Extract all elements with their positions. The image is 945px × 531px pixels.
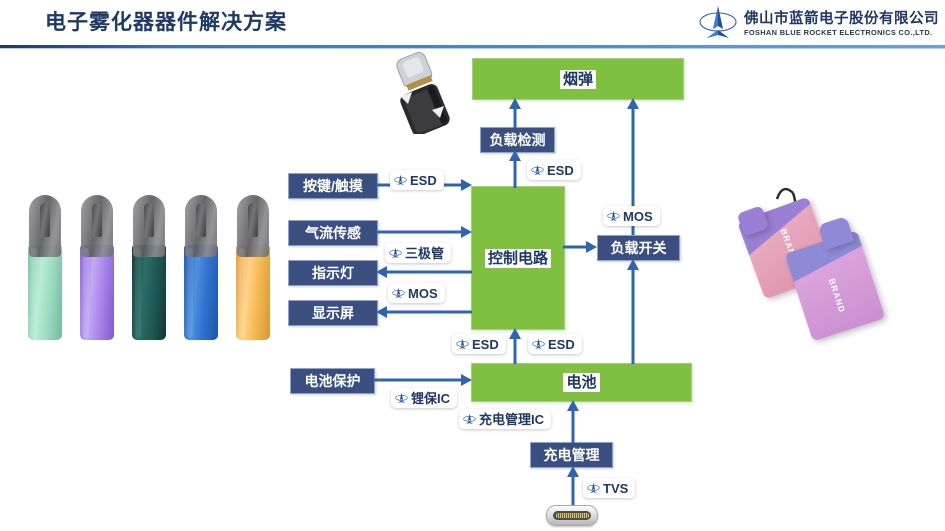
arrow-airflow-to-control bbox=[376, 225, 472, 239]
chip-esd-control-bottom[interactable]: ESD bbox=[528, 334, 582, 354]
logo-company-en: FOSHAN BLUE ROCKET ELECTRONICS CO.,LTD. bbox=[744, 29, 939, 36]
chip-tvs-usb[interactable]: TVS bbox=[583, 478, 635, 498]
arrow-control-to-indicator bbox=[376, 265, 472, 279]
block-battery[interactable]: 电池 bbox=[471, 363, 692, 402]
block-load-switch[interactable]: 负载开关 bbox=[597, 235, 680, 261]
block-pod[interactable]: 烟弹 bbox=[472, 58, 684, 100]
pod-product-photo: BRAND BRAND bbox=[735, 185, 935, 375]
chip-charge-management-ic-label: 充电管理IC bbox=[479, 413, 544, 426]
logo-company-cn: 佛山市蓝箭电子股份有限公司 bbox=[744, 12, 939, 27]
chip-esd-control-bottom-label: ESD bbox=[548, 338, 575, 351]
vape-device-lineup-image bbox=[20, 195, 270, 345]
chip-lipo-protection-ic[interactable]: 锂保IC bbox=[391, 388, 457, 408]
chip-tvs-usb-label: TVS bbox=[603, 482, 628, 495]
block-indicator-light[interactable]: 指示灯 bbox=[288, 260, 378, 286]
block-charge-management-label: 充电管理 bbox=[544, 445, 600, 465]
block-load-detect-label: 负载检测 bbox=[490, 130, 546, 150]
header-divider-thin bbox=[0, 48, 945, 49]
vape-device-4 bbox=[184, 195, 218, 340]
chip-esd-battery-label: ESD bbox=[472, 338, 499, 351]
vape-device-3 bbox=[132, 195, 166, 340]
chip-esd-battery[interactable]: ESD bbox=[452, 334, 506, 354]
chip-triode-indicator-label: 三极管 bbox=[405, 247, 444, 260]
arrow-control-to-display bbox=[376, 305, 472, 319]
block-airflow-sensor[interactable]: 气流传感 bbox=[288, 220, 378, 246]
rocket-star-icon bbox=[389, 247, 402, 260]
usb-c-port-icon bbox=[546, 505, 598, 526]
rocket-star-icon bbox=[587, 482, 600, 495]
arrow-load-detect-to-pod bbox=[508, 98, 522, 128]
block-key-touch-label: 按键/触摸 bbox=[303, 176, 363, 196]
vape-device-5 bbox=[236, 195, 270, 340]
block-display-screen[interactable]: 显示屏 bbox=[288, 300, 378, 326]
chip-esd-load-detect[interactable]: ESD bbox=[527, 160, 581, 180]
arrow-battery-to-control bbox=[508, 328, 522, 364]
chip-lipo-protection-ic-label: 锂保IC bbox=[411, 392, 450, 405]
rocket-star-icon bbox=[531, 164, 544, 177]
block-charge-management[interactable]: 充电管理 bbox=[530, 442, 613, 468]
company-logo: 佛山市蓝箭电子股份有限公司 FOSHAN BLUE ROCKET ELECTRO… bbox=[698, 4, 940, 44]
block-key-touch[interactable]: 按键/触摸 bbox=[288, 173, 378, 199]
rocket-star-icon bbox=[392, 287, 405, 300]
pod-cartridge-insert-photo bbox=[368, 52, 464, 134]
slide-root: 电子雾化器器件解决方案 佛山市蓝箭电子股份有限公司 FOSHAN BLUE RO… bbox=[0, 0, 945, 531]
block-load-switch-label: 负载开关 bbox=[611, 238, 667, 258]
chip-esd-load-detect-label: ESD bbox=[547, 164, 574, 177]
chip-mos-display[interactable]: MOS bbox=[388, 283, 445, 303]
block-airflow-sensor-label: 气流传感 bbox=[305, 223, 361, 243]
chip-esd-key-touch[interactable]: ESD bbox=[390, 170, 444, 190]
block-battery-label: 电池 bbox=[563, 373, 599, 392]
block-indicator-light-label: 指示灯 bbox=[312, 263, 354, 283]
arrow-usbc-to-charge-mgmt bbox=[566, 466, 580, 508]
block-display-screen-label: 显示屏 bbox=[312, 303, 354, 323]
block-pod-label: 烟弹 bbox=[560, 70, 596, 89]
arrow-batt-protect-to-battery bbox=[373, 373, 472, 387]
arrow-control-to-load-detect bbox=[508, 150, 522, 188]
vape-device-1 bbox=[28, 195, 62, 340]
chip-mos-load-switch[interactable]: MOS bbox=[603, 206, 660, 226]
block-control-circuit-label: 控制电路 bbox=[485, 249, 551, 268]
block-battery-protection[interactable]: 电池保护 bbox=[290, 368, 375, 394]
chip-charge-management-ic[interactable]: 充电管理IC bbox=[459, 409, 551, 429]
rocket-star-icon bbox=[394, 174, 407, 187]
page-title: 电子雾化器器件解决方案 bbox=[45, 8, 287, 38]
chip-mos-load-switch-label: MOS bbox=[623, 210, 653, 223]
rocket-star-icon bbox=[532, 338, 545, 351]
chip-triode-indicator[interactable]: 三极管 bbox=[385, 243, 451, 263]
rocket-star-icon bbox=[463, 413, 476, 426]
vape-device-2 bbox=[80, 195, 114, 340]
rocket-star-icon bbox=[456, 338, 469, 351]
rocket-star-icon bbox=[607, 210, 620, 223]
chip-mos-display-label: MOS bbox=[408, 287, 438, 300]
block-battery-protection-label: 电池保护 bbox=[305, 371, 361, 391]
pod-brand-label-2: BRAND bbox=[827, 277, 848, 314]
rocket-star-icon bbox=[395, 392, 408, 405]
arrow-charge-mgmt-to-battery bbox=[566, 400, 580, 443]
arrow-battery-to-load-switch bbox=[626, 259, 640, 364]
arrow-control-to-load-switch bbox=[563, 240, 597, 254]
chip-esd-key-touch-label: ESD bbox=[410, 174, 437, 187]
blue-rocket-star-logo-icon bbox=[698, 5, 738, 43]
block-control-circuit[interactable]: 控制电路 bbox=[471, 186, 565, 330]
